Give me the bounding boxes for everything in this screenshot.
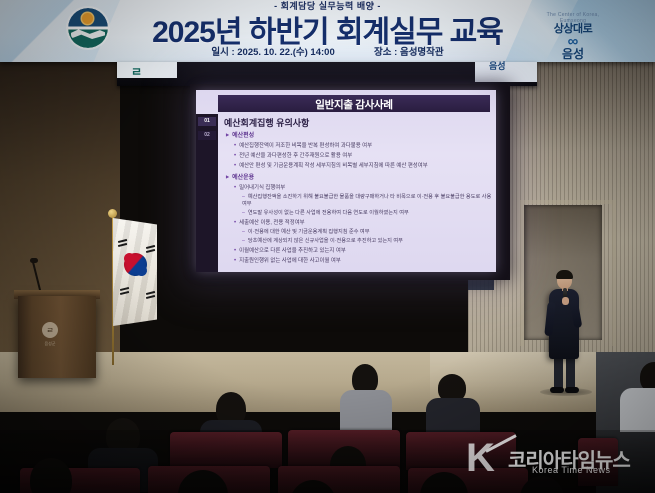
banner-datetime: 일시 : 2025. 10. 22.(수) 14:00 bbox=[211, 44, 334, 58]
section-1-item-3: 예산안 편성 및 기금운용계획 작성 세부지침의 비목별 세부지침에 따른 예산… bbox=[234, 161, 488, 169]
monitor-badge-right: 음성 bbox=[475, 62, 537, 82]
section-2-item-2-sub-2: 당초예산에 계상되지 않은 신규사업을 이·전용으로 추진하고 있는지 여부 bbox=[242, 237, 492, 244]
section-2-item-1: 밀어내기식 집행여부 bbox=[234, 183, 492, 191]
section-2-item-1-sub-2: 연도말 유사성이 없는 다른 사업에 전용하여 다음 연도로 이월하였는지 여부 bbox=[242, 209, 492, 216]
monitor-badge-left: ㄹ bbox=[117, 62, 177, 78]
slide-tab-02: 02 bbox=[198, 131, 216, 140]
slide-tab-01: 01 bbox=[198, 117, 216, 126]
section-2-item-2-sub-1: 이·전용에 대한 예산 및 기금운용계획 집행지침 준수 여부 bbox=[242, 228, 492, 235]
section-1-item-2: 전년 예산을 과다편성한 후 간주재원으로 활용 여부 bbox=[234, 151, 488, 159]
podium-label: 음성군 bbox=[36, 341, 64, 347]
city-slogan-logo: The Center of Korea, Eumseong 상상대로 ∞ 음성 bbox=[534, 12, 612, 52]
projection-screen: 01 02 일반지출 감사사례 예산회계집행 유의사항 예산편성 예산집행잔액이… bbox=[190, 84, 510, 280]
section-2-item-3: 이월예산으로 다른 사업을 추진하고 있는지 여부 bbox=[234, 246, 492, 254]
slide-section-2: 예산운용 밀어내기식 집행여부 예산집행잔액을 소진하기 위해 불요불급한 물품… bbox=[226, 172, 492, 266]
logo-city-name: 음성 bbox=[534, 48, 612, 60]
event-banner: - 회계담당 실무능력 배양 - 2025년 하반기 회계실무 교육 일시 : … bbox=[0, 0, 655, 62]
section-2-item-2: 세출예산 이용, 전용 적정여부 bbox=[234, 218, 492, 226]
section-2-item-4: 지출원인행위 없는 사업에 대한 사고이월 여부 bbox=[234, 256, 492, 264]
speaker-hand bbox=[562, 297, 569, 305]
slide-section-1: 예산편성 예산집행잔액이 저조한 비목을 반복 편성하여 과다불용 여부 전년 … bbox=[226, 130, 488, 171]
audience-body bbox=[426, 398, 480, 434]
wall-monitor-strip: ㄹ 음성 bbox=[117, 62, 537, 86]
audience-body bbox=[340, 390, 392, 430]
slide-title: 일반지출 감사사례 bbox=[218, 97, 490, 112]
monitor-badge-right-mark: 음성 bbox=[489, 62, 506, 71]
section-2-label: 예산운용 bbox=[226, 172, 492, 181]
watermark-english: Korea Time News bbox=[532, 465, 611, 475]
photo-screenshot: - 회계담당 실무능력 배양 - 2025년 하반기 회계실무 교육 일시 : … bbox=[0, 0, 655, 493]
slide-tab-column: 01 02 bbox=[196, 114, 218, 272]
speaker-hair bbox=[556, 270, 573, 279]
flag-finial bbox=[108, 209, 117, 218]
slide-title-bar: 일반지출 감사사례 bbox=[218, 95, 490, 112]
watermark-k-icon: K bbox=[466, 438, 492, 478]
section-2-item-1-sub-1: 예산집행잔액을 소진하기 위해 불요불급한 물품을 대량구매하거나 타 비목으로… bbox=[242, 193, 492, 207]
slide-heading: 예산회계집행 유의사항 bbox=[224, 116, 309, 129]
section-1-label: 예산편성 bbox=[226, 130, 488, 139]
monitor-badge-left-mark: ㄹ bbox=[131, 63, 142, 80]
watermark: K 코리아타임뉴스 Korea Time News bbox=[466, 440, 646, 484]
section-1-item-1: 예산집행잔액이 저조한 비목을 반복 편성하여 과다불용 여부 bbox=[234, 141, 488, 149]
presentation-slide: 01 02 일반지출 감사사례 예산회계집행 유의사항 예산편성 예산집행잔액이… bbox=[196, 90, 496, 272]
banner-place: 장소 : 음성명작관 bbox=[374, 44, 444, 58]
podium-emblem-glyph: ㄹ bbox=[42, 325, 58, 336]
podium-emblem-icon: ㄹ bbox=[42, 322, 58, 338]
audience-body bbox=[620, 388, 655, 432]
